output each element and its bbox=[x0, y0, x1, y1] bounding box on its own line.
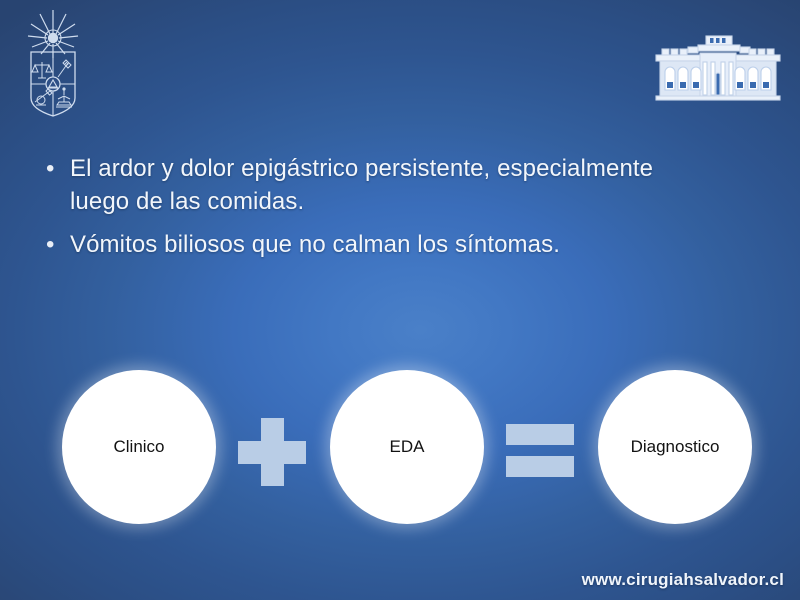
hospital-del-salvador-building-icon bbox=[648, 32, 788, 104]
plus-sign-icon bbox=[238, 418, 306, 486]
circle-label: Diagnostico bbox=[623, 437, 728, 457]
circle-label: Clinico bbox=[105, 437, 172, 457]
equals-bottom-bar bbox=[506, 456, 574, 477]
equals-sign-icon bbox=[506, 424, 574, 477]
bullet-text: El ardor y dolor epigástrico persistente… bbox=[70, 152, 700, 218]
plus-vertical-bar bbox=[261, 418, 284, 486]
equals-top-bar bbox=[506, 424, 574, 445]
bullet-marker-icon: • bbox=[40, 228, 70, 261]
bullet-list: • El ardor y dolor epigástrico persisten… bbox=[40, 152, 700, 271]
circle-label: EDA bbox=[382, 437, 433, 457]
diagram-circle-eda: EDA bbox=[330, 370, 484, 524]
list-item: • Vómitos biliosos que no calman los sín… bbox=[40, 228, 700, 261]
equation-diagram: Clinico EDA Diagnostico bbox=[0, 370, 800, 530]
diagram-circle-diagnostico: Diagnostico bbox=[598, 370, 752, 524]
slide-canvas: • El ardor y dolor epigástrico persisten… bbox=[0, 0, 800, 600]
diagram-circle-clinico: Clinico bbox=[62, 370, 216, 524]
bullet-text: Vómitos biliosos que no calman los sínto… bbox=[70, 228, 560, 261]
universidad-de-chile-coat-of-arms-icon bbox=[22, 6, 84, 118]
list-item: • El ardor y dolor epigástrico persisten… bbox=[40, 152, 700, 218]
bullet-marker-icon: • bbox=[40, 152, 70, 185]
footer-website-url: www.cirugiahsalvador.cl bbox=[582, 570, 784, 590]
